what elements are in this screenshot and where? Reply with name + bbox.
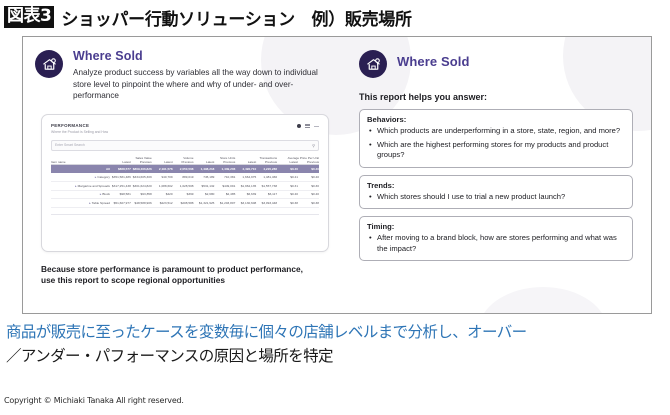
question-list: Which products are underperforming in a … bbox=[367, 126, 625, 161]
table-cell-value: 745,189 bbox=[194, 173, 215, 181]
table-row[interactable]: ▸Block$98,581$93,858$420$399$2,680$2,485… bbox=[51, 190, 319, 199]
table-cell-value: $868,577 bbox=[110, 165, 131, 174]
caption: 商品が販売に至ったケースを変数毎に個々の店舗レベルまで分析し、オーバー ／アンダ… bbox=[6, 320, 666, 368]
table-row[interactable]: ▸Category$351,581,486$334,605,309940,709… bbox=[51, 173, 319, 181]
dashboard-toolbar bbox=[297, 124, 319, 128]
question-group-label: Trends: bbox=[367, 181, 625, 190]
search-icon: ⚲ bbox=[312, 143, 315, 148]
table-cell-value: 1,664,975 bbox=[235, 173, 256, 181]
store-location-pin-icon bbox=[35, 50, 63, 78]
table-cell-value: $0.38 bbox=[277, 199, 298, 208]
performance-table-head: Sales Value Volume Store Units Transacti… bbox=[51, 156, 319, 165]
table-cell-value: $809,466,826 bbox=[131, 165, 152, 174]
table-cell-value: $0.30 bbox=[298, 181, 319, 190]
dashboard-topbar: PERFORMANCE Where the Product is Selling… bbox=[51, 123, 319, 135]
table-cell-value: $0.40 bbox=[277, 165, 298, 174]
left-panel-title: Where Sold bbox=[73, 49, 323, 64]
dashboard-search-placeholder: Enter Smart Search bbox=[55, 143, 85, 147]
table-cell-value: $223,512 bbox=[152, 199, 173, 208]
slide-container: Where Sold Analyze product success by va… bbox=[22, 36, 652, 314]
copyright-notice: Copyright © Michiaki Tanaka All right re… bbox=[4, 396, 184, 405]
table-row[interactable]: ▸Table Spread$51,607,977$48,588,906$223,… bbox=[51, 199, 319, 208]
question-list-item: Which stores should I use to trial a new… bbox=[377, 192, 625, 203]
more-options-icon[interactable] bbox=[314, 126, 319, 127]
caption-line-1: 商品が販売に至ったケースを変数毎に個々の店舗レベルまで分析し、オーバー bbox=[6, 320, 666, 344]
table-cell-value: 889,019 bbox=[173, 173, 194, 181]
figure-number-tag: 図表3 bbox=[4, 6, 54, 28]
table-cell-value: 1,481,466 bbox=[256, 173, 277, 181]
table-cell-value: 940,709 bbox=[152, 173, 173, 181]
table-cell-value: $48,588,906 bbox=[131, 199, 152, 208]
table-cell-value: $3,093,448 bbox=[256, 199, 277, 208]
question-group-label: Timing: bbox=[367, 222, 625, 231]
table-cell-value: $6,117 bbox=[256, 190, 277, 199]
question-group-box: Trends:Which stores should I use to tria… bbox=[359, 175, 633, 210]
dashboard-title: PERFORMANCE bbox=[51, 123, 108, 129]
table-cell-value: $93,858 bbox=[131, 190, 152, 199]
table-cell-value: $1,557,738 bbox=[256, 181, 277, 190]
table-cell-value: $449,091 bbox=[214, 181, 235, 190]
right-panel-title: Where Sold bbox=[397, 54, 470, 69]
table-cell-value: 1,498,218 bbox=[194, 165, 215, 174]
performance-table: Sales Value Volume Store Units Transacti… bbox=[51, 156, 319, 208]
table-cell-value: $334,605,309 bbox=[131, 173, 152, 181]
table-cell-value: $2,680 bbox=[194, 190, 215, 199]
table-cell-value: 4,490,710 bbox=[235, 165, 256, 174]
figure-title: ショッパー行動ソリューション 例）販売場所 bbox=[61, 5, 411, 30]
dashboard-search-input[interactable]: Enter Smart Search ⚲ bbox=[51, 140, 319, 151]
right-panel-header: Where Sold bbox=[359, 49, 633, 78]
table-cell-item-name: ▸Margarine and Spreads bbox=[51, 181, 110, 190]
question-group-label: Behaviors: bbox=[367, 115, 625, 124]
table-cell-value: $98,581 bbox=[110, 190, 131, 199]
question-list: After moving to a brand block, how are s… bbox=[367, 233, 625, 254]
question-list-item: After moving to a brand block, how are s… bbox=[377, 233, 625, 254]
table-cell-value: 2,191,578 bbox=[152, 165, 173, 174]
table-cell-value: 2,050,568 bbox=[173, 165, 194, 174]
table-cell-item-name: ▸Table Spread bbox=[51, 199, 110, 208]
table-row[interactable]: ▸Margarine and Spreads$317,251,438$301,6… bbox=[51, 181, 319, 190]
table-cell-item-name: ▸Block bbox=[51, 190, 110, 199]
table-cell-value: $0.31 bbox=[277, 181, 298, 190]
table-cell-value: 1,088,602 bbox=[152, 181, 173, 190]
dashboard-detail-pane bbox=[51, 214, 319, 241]
table-cell-value: $6,639 bbox=[235, 190, 256, 199]
question-list-item: Which products are underperforming in a … bbox=[377, 126, 625, 137]
table-cell-value: $351,581,486 bbox=[110, 173, 131, 181]
table-cell-value: $1,203,807 bbox=[214, 199, 235, 208]
filter-dot-icon[interactable] bbox=[297, 124, 301, 128]
figure-heading: 図表3 ショッパー行動ソリューション 例）販売場所 bbox=[0, 0, 670, 28]
table-cell-value: 1,439,206 bbox=[214, 165, 235, 174]
dashboard-screenshot: PERFORMANCE Where the Product is Selling… bbox=[41, 114, 329, 252]
left-panel-footnote: Because store performance is paramount t… bbox=[41, 264, 316, 287]
caption-line-2: ／アンダー・パフォーマンスの原因と場所を特定 bbox=[6, 344, 666, 368]
question-group-box: Timing:After moving to a brand block, ho… bbox=[359, 216, 633, 261]
question-group-box: Behaviors:Which products are underperfor… bbox=[359, 109, 633, 168]
list-view-icon[interactable] bbox=[305, 124, 310, 128]
panel-where-sold-overview: Where Sold Analyze product success by va… bbox=[23, 37, 341, 313]
table-cell-value: $317,251,438 bbox=[110, 181, 131, 190]
chevron-right-icon[interactable]: ▸ bbox=[89, 201, 91, 205]
table-cell-value: $301,624,820 bbox=[131, 181, 152, 190]
left-panel-subtitle: Analyze product success by variables all… bbox=[73, 67, 323, 102]
table-cell-value: $0.40 bbox=[298, 165, 319, 174]
questions-lead-text: This report helps you answer: bbox=[359, 92, 633, 102]
chevron-right-icon[interactable]: ▸ bbox=[95, 175, 97, 179]
table-cell-item-name: ▸Category bbox=[51, 173, 110, 181]
chevron-right-icon[interactable]: ▸ bbox=[100, 192, 102, 196]
table-cell-value: $0.38 bbox=[298, 199, 319, 208]
table-cell-value: $531,132 bbox=[194, 181, 215, 190]
dashboard-subtitle: Where the Product is Selling and How bbox=[51, 130, 108, 135]
table-cell-value: $2,485 bbox=[214, 190, 235, 199]
table-cell-value: $208,588 bbox=[173, 199, 194, 208]
table-cell-value: $51,607,977 bbox=[110, 199, 131, 208]
table-cell-value: $0.41 bbox=[277, 173, 298, 181]
table-row[interactable]: All$868,577$809,466,8262,191,5782,050,56… bbox=[51, 165, 319, 174]
left-panel-header: Where Sold Analyze product success by va… bbox=[35, 49, 327, 102]
question-list: Which stores should I use to trial a new… bbox=[367, 192, 625, 203]
performance-table-body: All$868,577$809,466,8262,191,5782,050,56… bbox=[51, 165, 319, 207]
question-list-item: Which are the highest performing stores … bbox=[377, 140, 625, 161]
table-cell-value: 710,381 bbox=[214, 173, 235, 181]
table-cell-value: 4,220,286 bbox=[256, 165, 277, 174]
store-location-pin-icon bbox=[359, 50, 387, 78]
table-cell-value: $0.40 bbox=[277, 190, 298, 199]
chevron-right-icon[interactable]: ▸ bbox=[75, 184, 77, 188]
panel-where-sold-questions: Where Sold This report helps you answer:… bbox=[341, 37, 651, 313]
table-cell-value: $1,962,135 bbox=[235, 181, 256, 190]
table-cell-value: $1,321,925 bbox=[194, 199, 215, 208]
table-cell-item-name: All bbox=[51, 165, 110, 174]
table-cell-value: $399 bbox=[173, 190, 194, 199]
questions-box-list: Behaviors:Which products are underperfor… bbox=[359, 109, 633, 261]
table-cell-value: 1,028,508 bbox=[173, 181, 194, 190]
table-cell-value: $420 bbox=[152, 190, 173, 199]
table-cell-value: $0.40 bbox=[298, 173, 319, 181]
table-cell-value: $3,130,608 bbox=[235, 199, 256, 208]
table-cell-value: $0.40 bbox=[298, 190, 319, 199]
